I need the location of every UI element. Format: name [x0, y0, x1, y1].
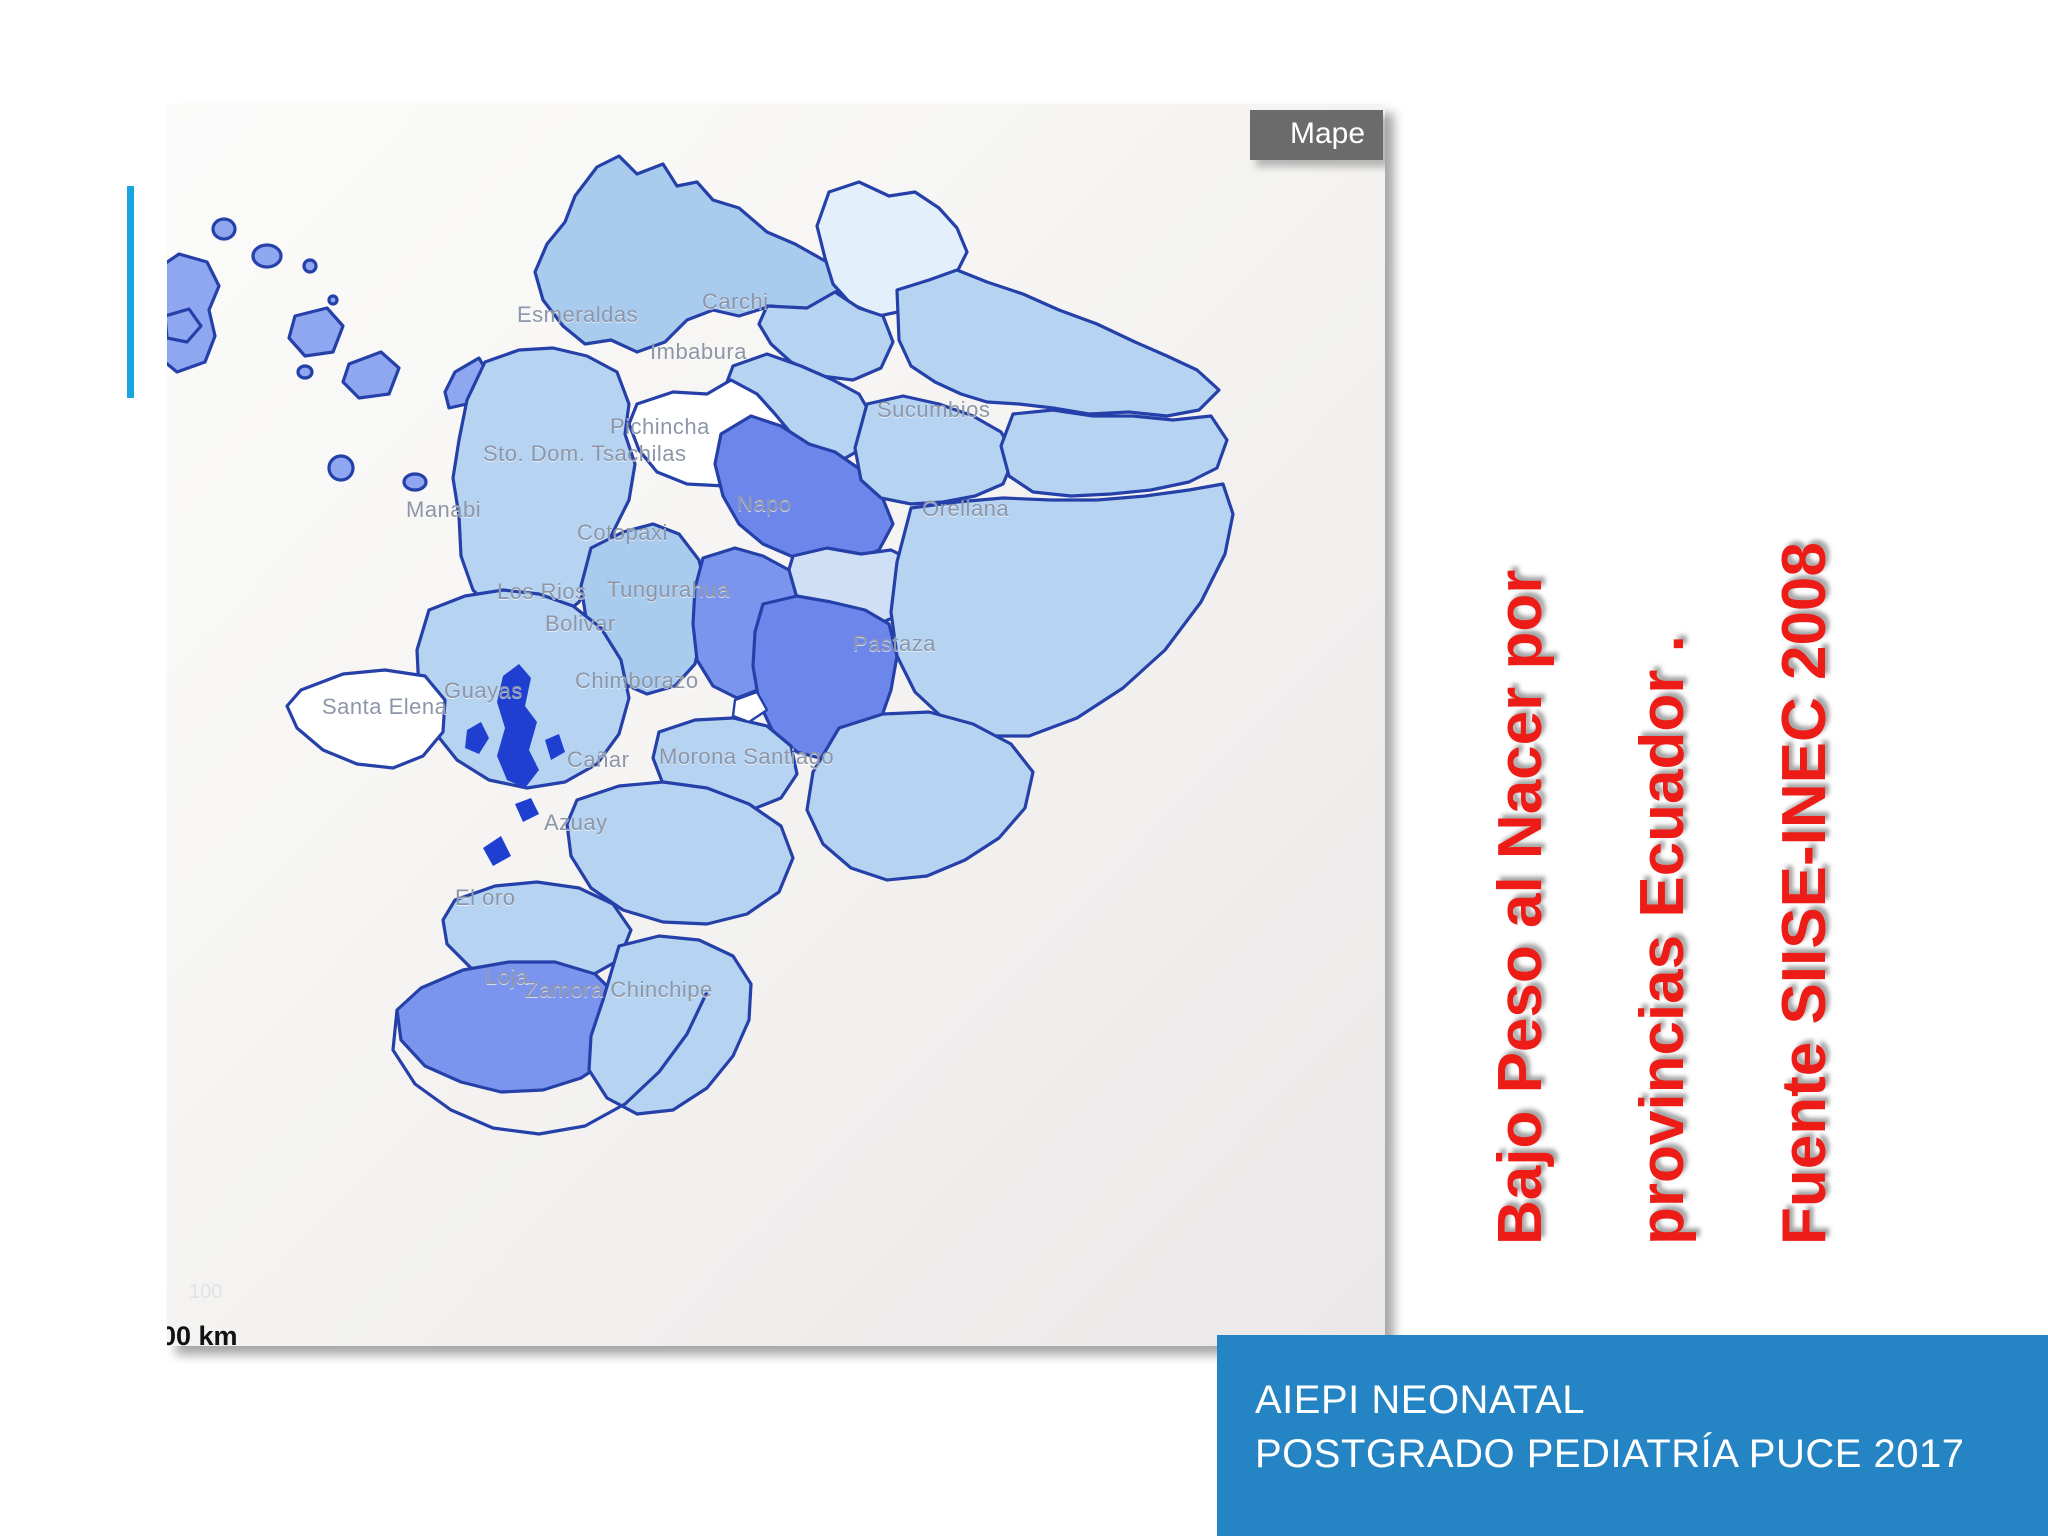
ecuador-choropleth-map: [167, 104, 1385, 1346]
scale-ghost-label: 100: [189, 1281, 222, 1304]
footer-banner: AIEPI NEONATAL POSTGRADO PEDIATRÍA PUCE …: [1217, 1335, 2048, 1536]
footer-line-course: AIEPI NEONATAL: [1255, 1373, 2048, 1427]
title-line-1: Bajo Peso al Nacer por: [1485, 570, 1556, 1245]
title-line-2: provincias Ecuador .: [1627, 635, 1698, 1245]
map-figure[interactable]: Esmeraldas Carchi Imbabura Sucumbios Pic…: [167, 104, 1385, 1346]
left-accent-bar: [127, 186, 134, 398]
title-line-3: Fuente SIISE-INEC 2008: [1769, 542, 1840, 1245]
map-tooltip-label[interactable]: Mape: [1250, 110, 1383, 160]
slide-title: Bajo Peso al Nacer por provincias Ecuado…: [1415, 0, 2045, 1280]
footer-line-program: POSTGRADO PEDIATRÍA PUCE 2017: [1255, 1427, 2048, 1481]
map-scale-label: 00 km: [167, 1321, 238, 1346]
map-vector: [167, 104, 1385, 1346]
